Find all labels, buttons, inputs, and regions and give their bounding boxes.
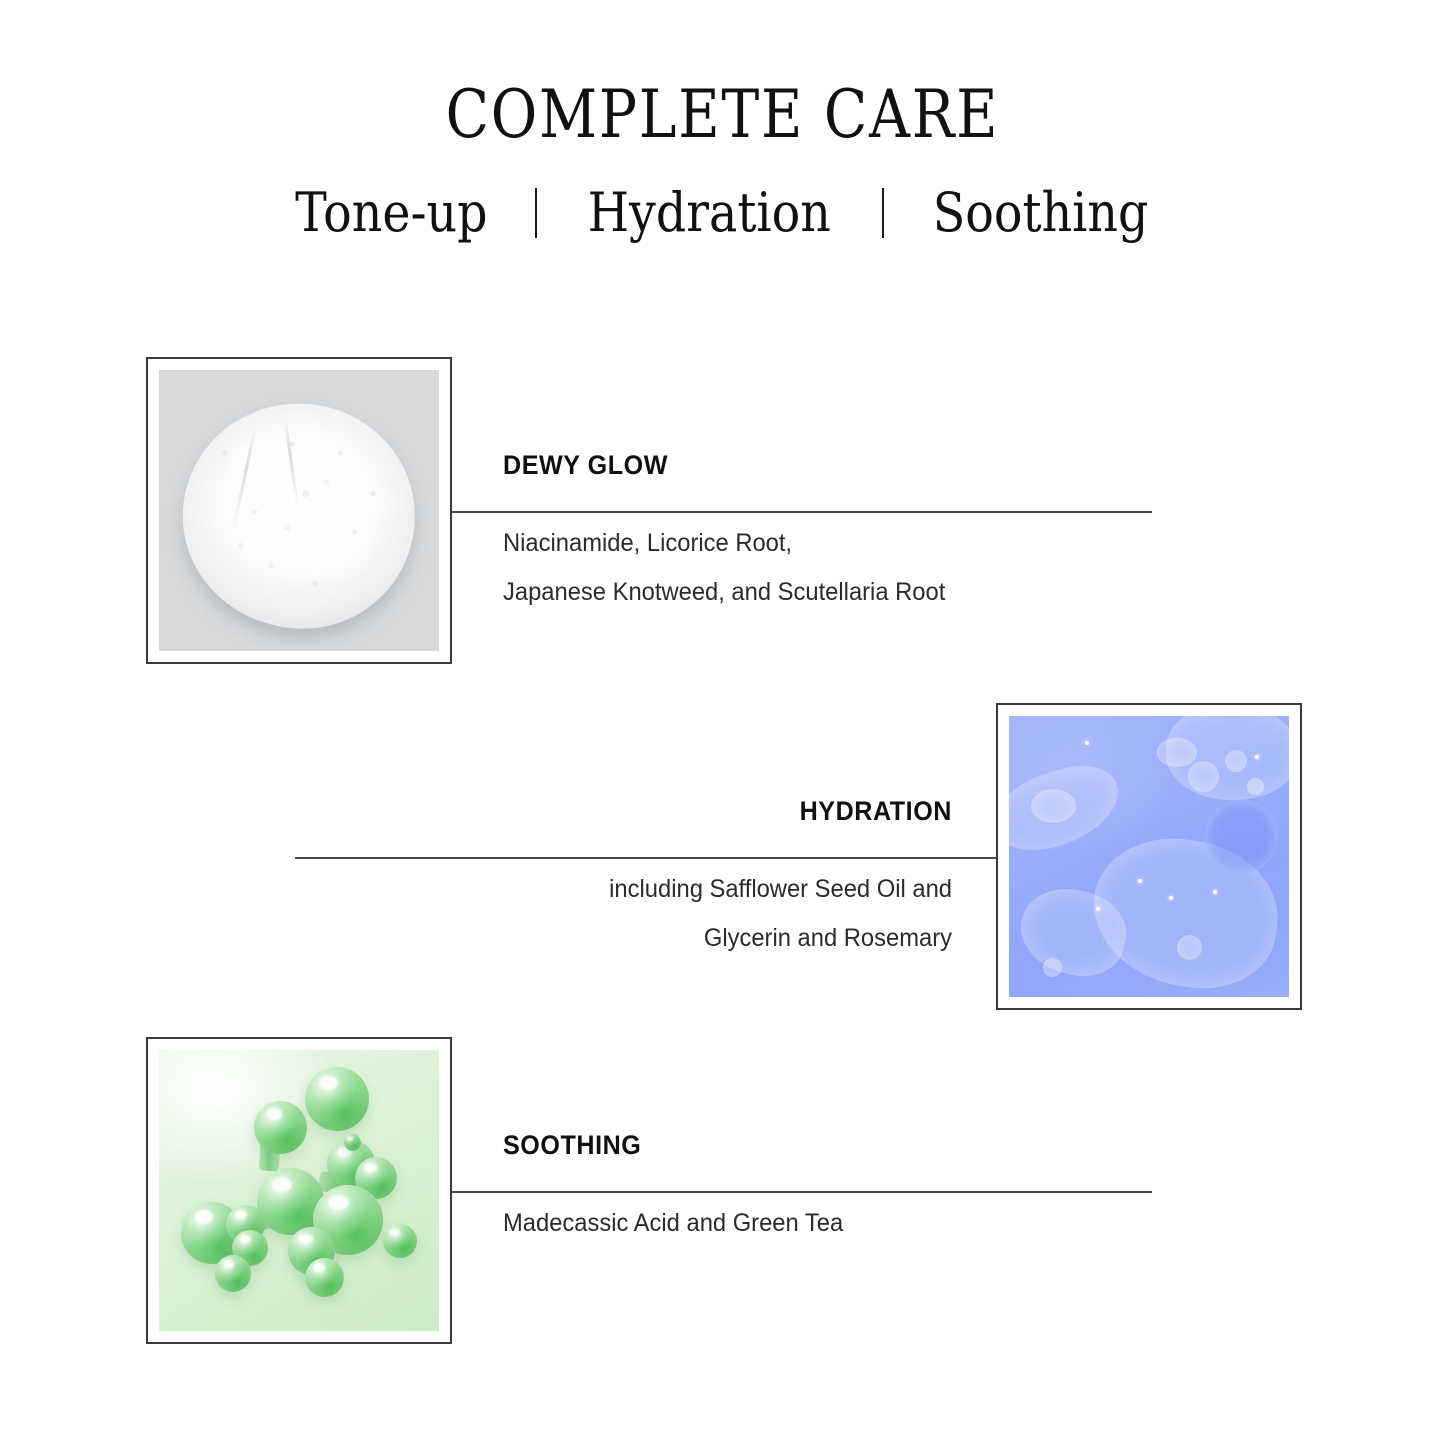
highlight-spark <box>1138 879 1142 883</box>
ingredient-line: including Safflower Seed Oil and <box>609 875 952 903</box>
powder-background <box>159 370 439 651</box>
subtitle-row: Tone-up Hydration Soothing <box>0 186 1445 240</box>
blue-serum-photo <box>1009 716 1289 997</box>
highlight-spark <box>1096 907 1100 911</box>
text-block-soothing: SOOTHING Madecassic Acid and Green Tea <box>503 1132 1183 1248</box>
subtitle-separator-icon <box>535 188 537 238</box>
block-body-soothing: Madecassic Acid and Green Tea <box>503 1199 1149 1248</box>
blue-background <box>1009 716 1289 997</box>
powder-photo <box>159 370 439 651</box>
subtitle-word-soothing: Soothing <box>913 186 1167 240</box>
powder-mound-shape <box>183 404 415 629</box>
subtitle-word-hydration: Hydration <box>568 186 850 240</box>
block-title-soothing: SOOTHING <box>503 1132 1135 1159</box>
molecule-sphere <box>305 1067 369 1132</box>
text-block-hydration: HYDRATION including Safflower Seed Oil a… <box>272 798 952 963</box>
serum-bubble <box>1247 778 1264 795</box>
page-title: COMPLETE CARE <box>101 0 1344 148</box>
molecule-sphere <box>305 1258 344 1297</box>
molecule-sphere <box>383 1224 417 1258</box>
molecule-sphere <box>344 1134 361 1151</box>
green-background <box>159 1050 439 1331</box>
text-block-dewy-glow: DEWY GLOW Niacinamide, Licorice Root, Ja… <box>503 452 1183 617</box>
serum-bubble <box>1225 750 1247 772</box>
block-body-hydration: including Safflower Seed Oil and Glyceri… <box>306 865 952 963</box>
serum-bubble <box>1188 761 1219 792</box>
block-title-dewy-glow: DEWY GLOW <box>503 452 1135 479</box>
serum-bubble <box>1031 789 1076 823</box>
serum-bubble <box>1157 738 1196 766</box>
image-tile-hydration <box>996 703 1302 1010</box>
molecule-sphere <box>254 1101 307 1154</box>
block-title-hydration: HYDRATION <box>320 798 952 825</box>
subtitle-word-tone-up: Tone-up <box>276 186 507 240</box>
serum-bubble <box>1205 800 1278 873</box>
ingredient-line: Niacinamide, Licorice Root, <box>503 529 792 557</box>
highlight-spark <box>1085 741 1089 745</box>
ingredient-line: Madecassic Acid and Green Tea <box>503 1209 843 1237</box>
image-tile-dewy-glow <box>146 357 452 664</box>
molecule-sphere <box>215 1255 251 1292</box>
subtitle-separator-icon <box>882 188 884 238</box>
highlight-spark <box>1169 896 1173 900</box>
block-body-dewy-glow: Niacinamide, Licorice Root, Japanese Kno… <box>503 519 1149 617</box>
powder-texture <box>183 404 415 629</box>
ingredient-line: Glycerin and Rosemary <box>704 924 952 952</box>
serum-bubble <box>1043 958 1063 978</box>
green-molecule-photo <box>159 1050 439 1331</box>
image-tile-soothing <box>146 1037 452 1344</box>
ingredient-line: Japanese Knotweed, and Scutellaria Root <box>503 578 945 606</box>
page-header: COMPLETE CARE Tone-up Hydration Soothing <box>0 0 1445 240</box>
